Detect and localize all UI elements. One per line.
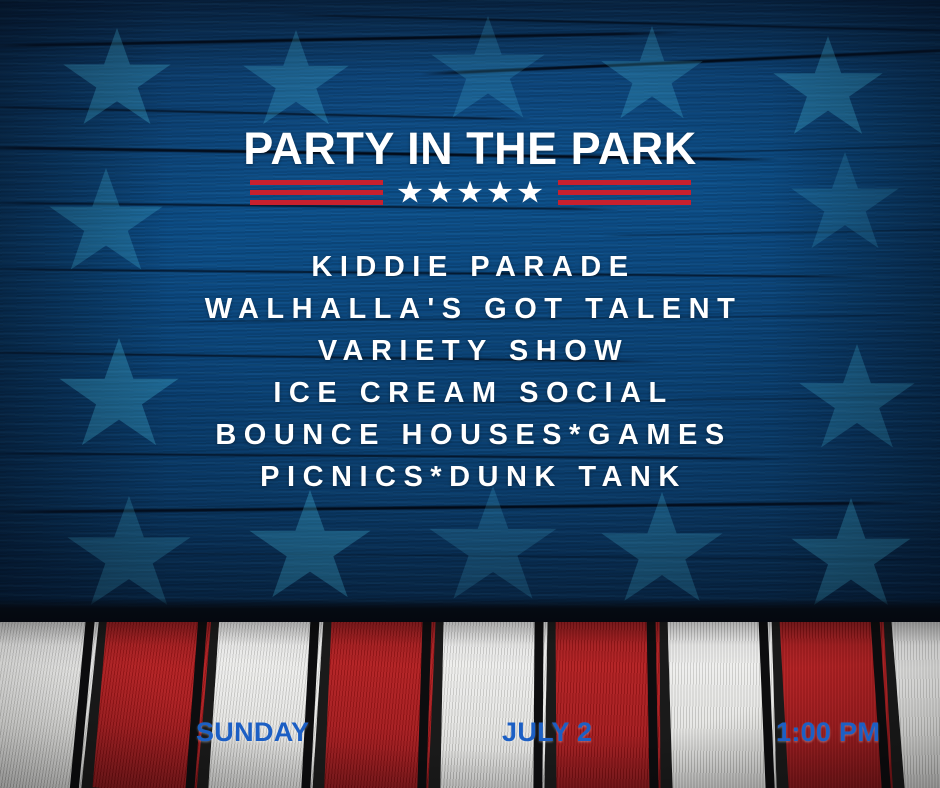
stripes-left <box>250 180 383 205</box>
event-time: 1:00 PM <box>776 708 880 756</box>
poster-title: PARTY IN THE PARK <box>0 126 940 171</box>
divider-star-row <box>393 181 548 205</box>
event-list-item: ICE CREAM SOCIAL <box>0 372 940 414</box>
divider-star <box>398 181 423 205</box>
stripe-bar <box>250 190 383 195</box>
event-date: JULY 2 <box>502 708 592 756</box>
stars-and-stripes-divider <box>0 180 940 205</box>
divider-star <box>488 181 513 205</box>
event-list-item: KIDDIE PARADE <box>0 246 940 288</box>
event-list-item: PICNICS*DUNK TANK <box>0 456 940 498</box>
stripe-bar <box>558 190 691 195</box>
stripes-right <box>558 180 691 205</box>
divider-star <box>518 181 543 205</box>
event-list-item: BOUNCE HOUSES*GAMES <box>0 414 940 456</box>
event-list-item: VARIETY SHOW <box>0 330 940 372</box>
event-details-bar: SUNDAY JULY 2 1:00 PM <box>0 708 940 756</box>
stripe-bar <box>558 180 691 185</box>
event-list-item: WALHALLA'S GOT TALENT <box>0 288 940 330</box>
divider-star <box>458 181 483 205</box>
event-day: SUNDAY <box>196 708 309 756</box>
party-in-the-park-poster: PARTY IN THE PARK KIDDIE PARADE <box>0 0 940 788</box>
event-list: KIDDIE PARADE WALHALLA'S GOT TALENT VARI… <box>0 246 940 498</box>
divider-star <box>428 181 453 205</box>
poster-content: PARTY IN THE PARK KIDDIE PARADE <box>0 0 940 788</box>
stripe-bar <box>250 200 383 205</box>
stripe-bar <box>558 200 691 205</box>
stripe-bar <box>250 180 383 185</box>
